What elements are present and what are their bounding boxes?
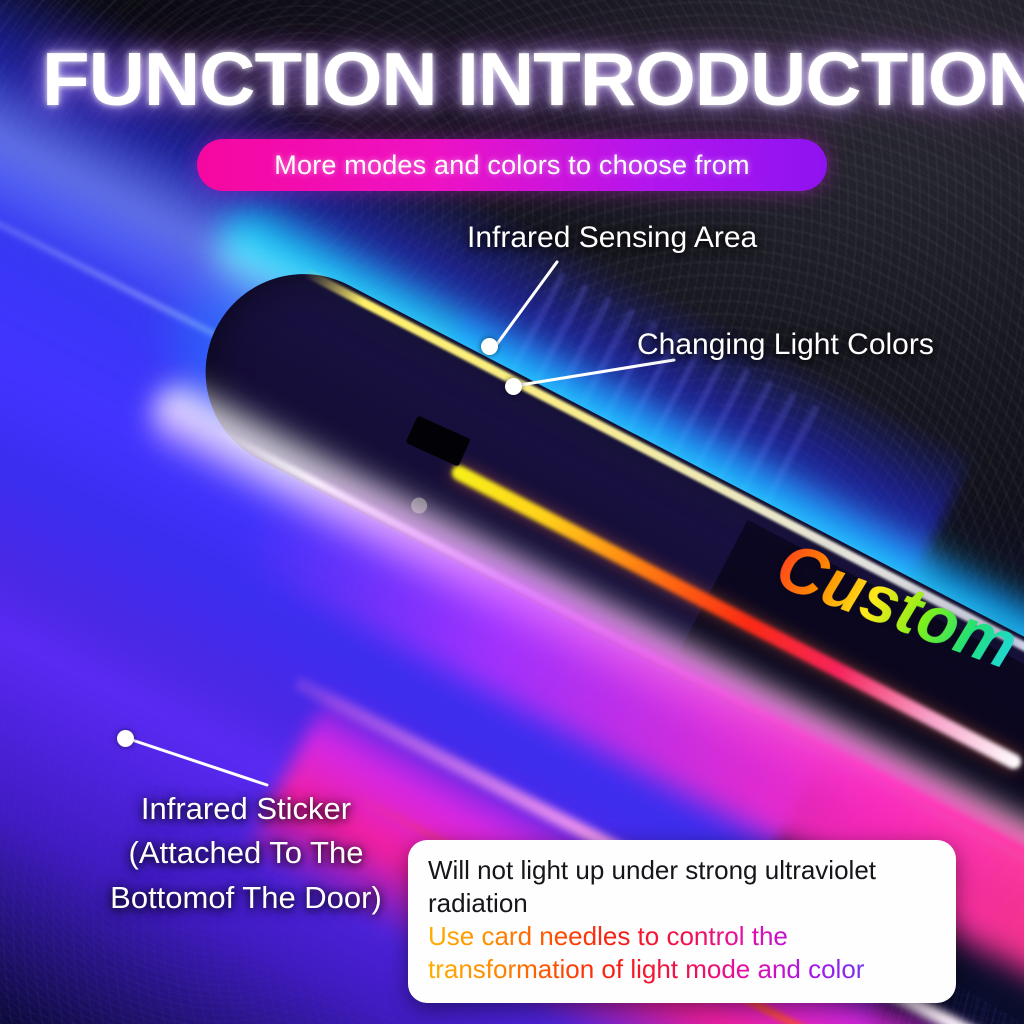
info-note-box: Will not light up under strong ultraviol… [408,840,956,1003]
callout-label-changing-light-colors: Changing Light Colors [637,328,934,362]
info-line-4: transformation of light mode and color [428,953,936,987]
callout-label-infrared-sticker: Infrared Sticker (Attached To The Bottom… [88,787,404,920]
callout-dot-changing-colors [505,378,522,395]
callout-dot-infrared-sticker [117,730,134,747]
promo-graphic: Custom L FUNCTION INTRODUCTION More mode… [0,0,1024,1024]
sticker-line-1: Infrared Sticker [88,787,404,831]
info-line-2: radiation [428,887,936,920]
sticker-line-2: (Attached To The [88,831,404,875]
info-line-1: Will not light up under strong ultraviol… [428,854,936,887]
page-title: FUNCTION INTRODUCTION [42,42,1024,117]
sticker-line-3: Bottomof The Door) [88,876,404,920]
info-line-3: Use card needles to control the [428,920,936,954]
subtitle-banner-label: More modes and colors to choose from [274,150,749,181]
subtitle-banner: More modes and colors to choose from [197,139,827,191]
callout-label-infrared-sensing-area: Infrared Sensing Area [467,221,757,255]
callout-dot-infrared-sensing [481,338,498,355]
